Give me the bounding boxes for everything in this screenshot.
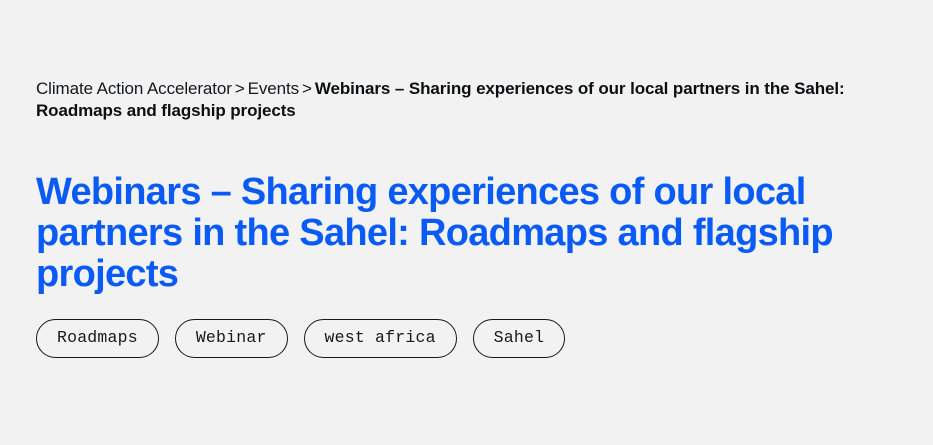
tag-list: Roadmaps Webinar west africa Sahel: [36, 319, 565, 358]
tag-webinar[interactable]: Webinar: [175, 319, 288, 358]
page-title: Webinars – Sharing experiences of our lo…: [36, 172, 856, 295]
breadcrumb-item-climate-action-accelerator[interactable]: Climate Action Accelerator: [36, 79, 232, 98]
breadcrumb-separator-2: >: [299, 79, 315, 98]
breadcrumb-separator-1: >: [232, 79, 248, 98]
breadcrumb: Climate Action Accelerator>Events>Webina…: [36, 78, 881, 121]
tag-sahel[interactable]: Sahel: [473, 319, 566, 358]
page-root: Climate Action Accelerator>Events>Webina…: [0, 0, 933, 445]
tag-roadmaps[interactable]: Roadmaps: [36, 319, 159, 358]
breadcrumb-item-events[interactable]: Events: [248, 79, 299, 98]
tag-west-africa[interactable]: west africa: [304, 319, 457, 358]
